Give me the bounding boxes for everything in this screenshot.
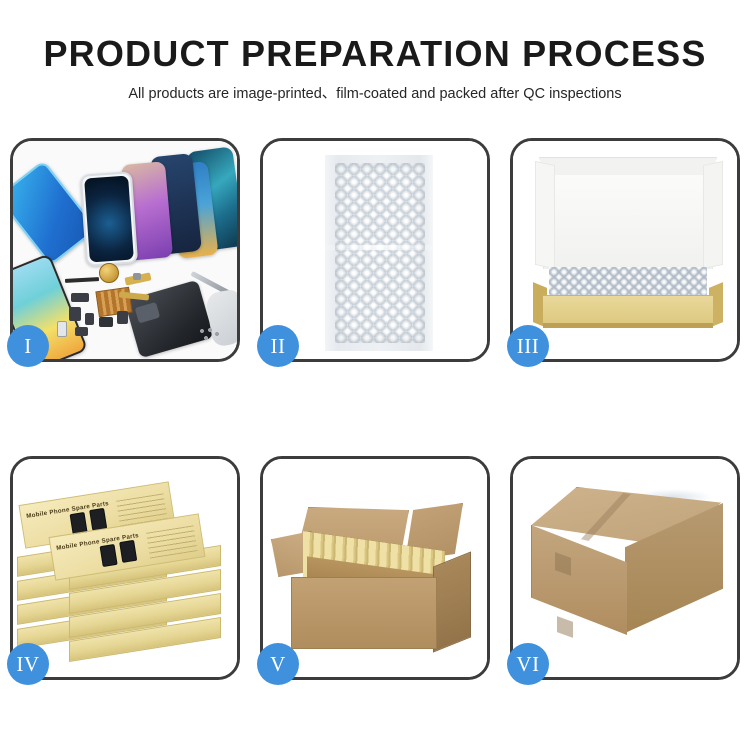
- step-6-image: [513, 459, 737, 677]
- box-back-wall: [543, 175, 713, 269]
- open-kraft-box-scene: [513, 141, 737, 359]
- screws-set: [199, 327, 221, 341]
- stacked-boxes-scene: Mobile Phone Spare Parts Mobile Phone Sp…: [13, 459, 237, 677]
- white-frame-phone: [80, 171, 138, 266]
- step-badge-5: V: [257, 643, 299, 685]
- step-badge-2: II: [257, 325, 299, 367]
- process-step-panel-3: III: [510, 138, 740, 362]
- antenna-strip-part: [65, 277, 99, 283]
- box-print-screen-b1: [100, 544, 118, 567]
- page-subtitle: All products are image-printed、film-coat…: [0, 84, 750, 104]
- small-part-2: [69, 307, 81, 321]
- box-flap-right: [703, 161, 723, 269]
- page-title: PRODUCT PREPARATION PROCESS: [0, 33, 750, 75]
- small-part-5: [117, 311, 128, 324]
- process-step-panel-5: V: [260, 456, 490, 680]
- step-badge-1: I: [7, 325, 49, 367]
- box-front-panel: [543, 295, 713, 325]
- box-print-spec-lines-b: [146, 525, 197, 558]
- product-preparation-infographic: PRODUCT PREPARATION PROCESS All products…: [0, 0, 750, 750]
- carton-side-face: [433, 551, 471, 652]
- header: PRODUCT PREPARATION PROCESS All products…: [0, 0, 750, 125]
- step-4-image: Mobile Phone Spare Parts Mobile Phone Sp…: [13, 459, 237, 677]
- vibration-motor-part: [99, 263, 119, 283]
- small-part-4: [99, 317, 113, 327]
- sealed-carton-scene: [513, 459, 737, 677]
- sealed-carton-left-face: [531, 525, 627, 635]
- carton-front-face: [291, 577, 437, 649]
- small-part-1: [71, 293, 89, 302]
- box-base-edge: [543, 323, 713, 328]
- small-part-3: [85, 313, 94, 325]
- phone-chassis: [124, 280, 214, 359]
- battery-part: [57, 321, 67, 337]
- step-5-image: [263, 459, 487, 677]
- bubble-wrapped-contents: [549, 267, 707, 297]
- process-step-panel-1: I: [10, 138, 240, 362]
- sealed-carton-tab-lower: [557, 616, 573, 638]
- phone-screen: [84, 176, 134, 263]
- step-2-image: [263, 141, 487, 359]
- step-3-image: [513, 141, 737, 359]
- open-carton-scene: [263, 459, 487, 677]
- step-1-image: [13, 141, 237, 359]
- bubble-wrap-texture: [335, 163, 425, 343]
- phone-parts-scene: [13, 141, 237, 359]
- small-part-6: [133, 273, 141, 280]
- pouch-seal-line: [325, 245, 433, 250]
- bubble-wrap-scene: [263, 141, 487, 359]
- process-step-panel-2: II: [260, 138, 490, 362]
- step-badge-3: III: [507, 325, 549, 367]
- small-part-8: [75, 327, 88, 336]
- step-badge-4: IV: [7, 643, 49, 685]
- process-step-panel-6: VI: [510, 456, 740, 680]
- box-print-screen-b2: [119, 540, 137, 563]
- step-badge-6: VI: [507, 643, 549, 685]
- box-flap-left: [535, 161, 555, 269]
- process-step-panel-4: Mobile Phone Spare Parts Mobile Phone Sp…: [10, 456, 240, 680]
- process-step-grid: I II: [10, 138, 740, 680]
